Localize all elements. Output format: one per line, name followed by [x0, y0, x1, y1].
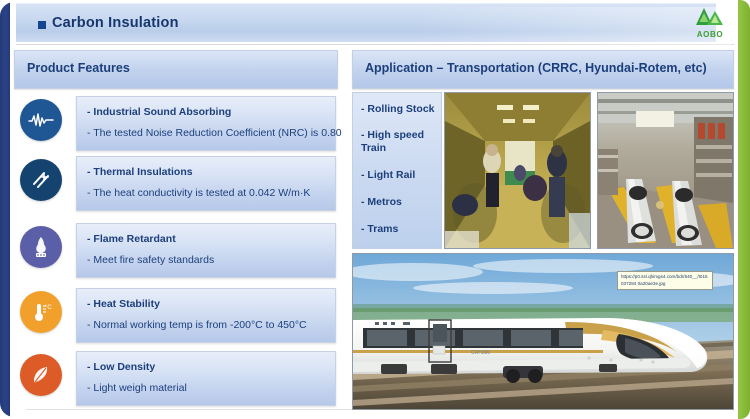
feather-low-density-icon	[20, 354, 62, 396]
sound-wave-icon	[20, 99, 62, 141]
feature-detail: - The heat conductivity is tested at 0.0…	[87, 187, 310, 199]
page-title: Carbon Insulation	[52, 15, 179, 31]
slide-header: Carbon Insulation	[16, 3, 716, 42]
feature-title: - Industrial Sound Absorbing	[87, 106, 231, 118]
feature-detail: - The tested Noise Reduction Coefficient…	[87, 127, 342, 139]
feature-text-box: - Low Density - Light weigh material	[76, 351, 336, 406]
list-item: - Rolling Stock	[361, 103, 435, 116]
thermal-insulation-icon	[20, 159, 62, 201]
train-interior-construction-photo	[444, 92, 591, 249]
feature-text-box: - Heat Stability - Normal working temp i…	[76, 288, 336, 343]
square-bullet-icon	[38, 21, 46, 29]
application-heading: Application – Transportation (CRRC, Hyun…	[352, 50, 734, 89]
application-label: Application – Transportation (CRRC, Hyun…	[365, 61, 707, 75]
flame-retardant-icon	[20, 226, 62, 268]
list-item: - Trams	[361, 223, 398, 236]
feature-row-low-density: - Low Density - Light weigh material	[14, 351, 336, 407]
feature-text-box: - Industrial Sound Absorbing - The teste…	[76, 96, 336, 151]
list-item: - High speed	[361, 129, 424, 142]
image-url-tooltip: https://p0.ssl.qhimgs4.com/bdr/640__/t01…	[617, 271, 713, 290]
feature-text-box: - Flame Retardant - Meet fire safety sta…	[76, 223, 336, 278]
thermometer-heat-icon: °C	[20, 291, 62, 333]
feature-detail: - Normal working temp is from -200°C to …	[87, 319, 307, 331]
product-features-heading: Product Features	[14, 50, 338, 89]
logo-text: AOBO	[697, 30, 723, 39]
slide-canvas: Carbon Insulation AOBO Product Features …	[0, 0, 750, 419]
feature-detail: - Light weigh material	[87, 382, 187, 394]
feature-title: - Thermal Insulations	[87, 166, 193, 178]
feature-title: - Flame Retardant	[87, 233, 176, 245]
list-item: - Metros	[361, 196, 402, 209]
feature-row-thermal-insulation: - Thermal Insulations - The heat conduct…	[14, 156, 336, 212]
feature-row-flame-retardant: - Flame Retardant - Meet fire safety sta…	[14, 223, 336, 279]
feature-title: - Heat Stability	[87, 298, 160, 310]
svg-text:CRH380: CRH380	[471, 350, 490, 356]
list-item: - Light Rail	[361, 169, 415, 182]
header-divider	[16, 44, 734, 45]
feature-text-box: - Thermal Insulations - The heat conduct…	[76, 156, 336, 211]
product-features-label: Product Features	[27, 61, 130, 75]
aobo-logo: AOBO	[688, 4, 732, 42]
feature-detail: - Meet fire safety standards	[87, 254, 214, 266]
train-assembly-factory-photo	[597, 92, 734, 249]
list-item: Train	[361, 142, 386, 155]
aobo-mountain-logo-icon	[695, 7, 725, 29]
svg-text:°C: °C	[45, 305, 52, 311]
feature-title: - Low Density	[87, 361, 155, 373]
application-list: - Rolling Stock - High speed Train - Lig…	[352, 92, 442, 249]
feature-row-sound-absorbing: - Industrial Sound Absorbing - The teste…	[14, 96, 336, 152]
feature-row-heat-stability: °C - Heat Stability - Normal working tem…	[14, 288, 336, 344]
